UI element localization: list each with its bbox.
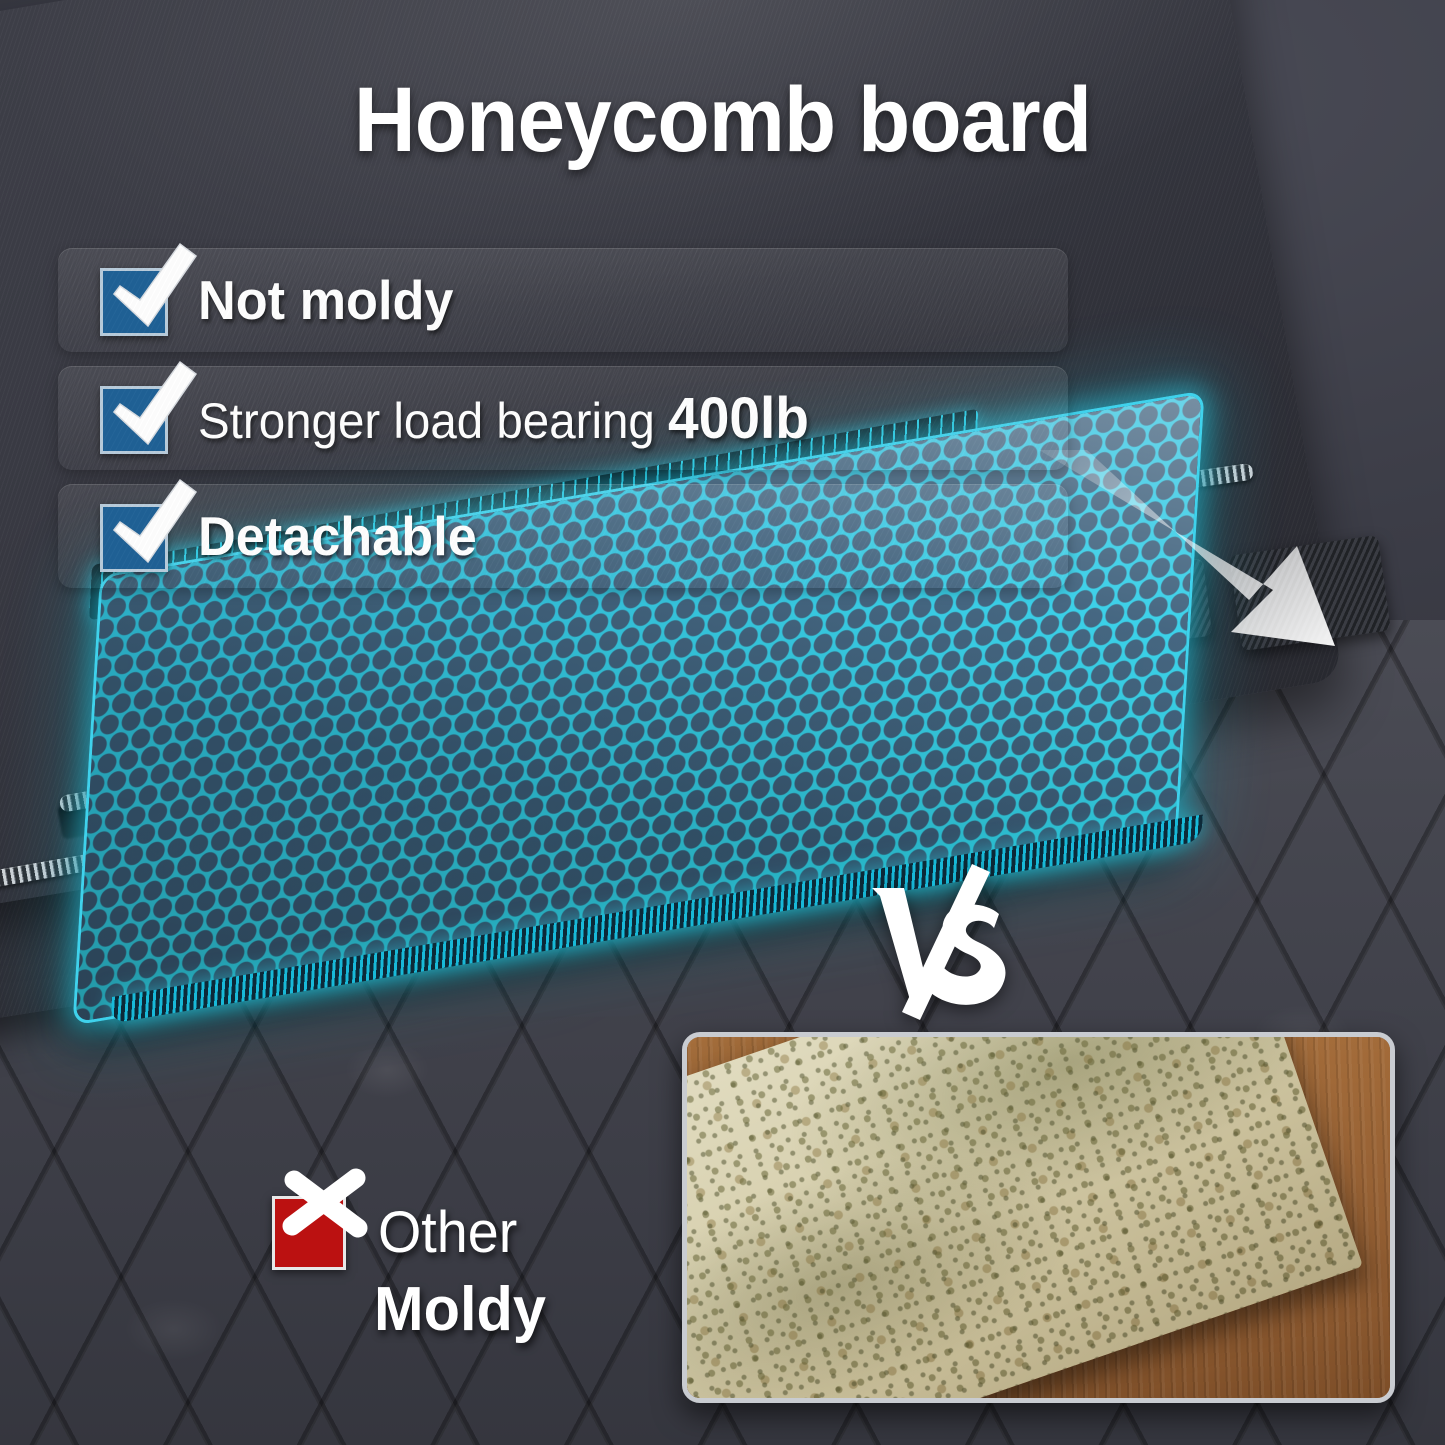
feature-row-load-bearing: Stronger load bearing 400lb	[58, 366, 1068, 470]
check-icon	[100, 382, 172, 454]
check-icon-mark	[98, 474, 202, 578]
cross-icon-mark	[276, 1164, 384, 1272]
check-icon	[100, 264, 172, 336]
negative-label-row: Other	[272, 1186, 672, 1278]
check-icon-mark	[98, 238, 202, 342]
feature-label: Not moldy	[198, 268, 453, 332]
product-infographic: Honeycomb board Not moldy Stronger load …	[0, 0, 1445, 1445]
arrow-down-right-icon	[1035, 450, 1365, 650]
vs-badge	[868, 862, 1018, 1022]
negative-comparison-block: Other Moldy	[272, 1186, 672, 1345]
cross-icon	[272, 1190, 356, 1274]
feature-label: Stronger load bearing	[198, 393, 655, 449]
feature-row-detachable: Detachable	[58, 484, 1068, 588]
feature-label: Detachable	[198, 504, 477, 568]
feature-emphasis-value: 400lb	[668, 386, 809, 451]
negative-label-primary: Other	[378, 1199, 517, 1266]
check-icon-mark	[98, 356, 202, 460]
feature-list: Not moldy Stronger load bearing 400lb	[58, 248, 1068, 602]
feature-label-container: Stronger load bearing 400lb	[198, 385, 809, 452]
moldy-board-photo	[682, 1032, 1395, 1403]
feature-row-not-moldy: Not moldy	[58, 248, 1068, 352]
page-title: Honeycomb board	[51, 68, 1395, 173]
negative-label-secondary: Moldy	[374, 1274, 660, 1345]
check-icon	[100, 500, 172, 572]
